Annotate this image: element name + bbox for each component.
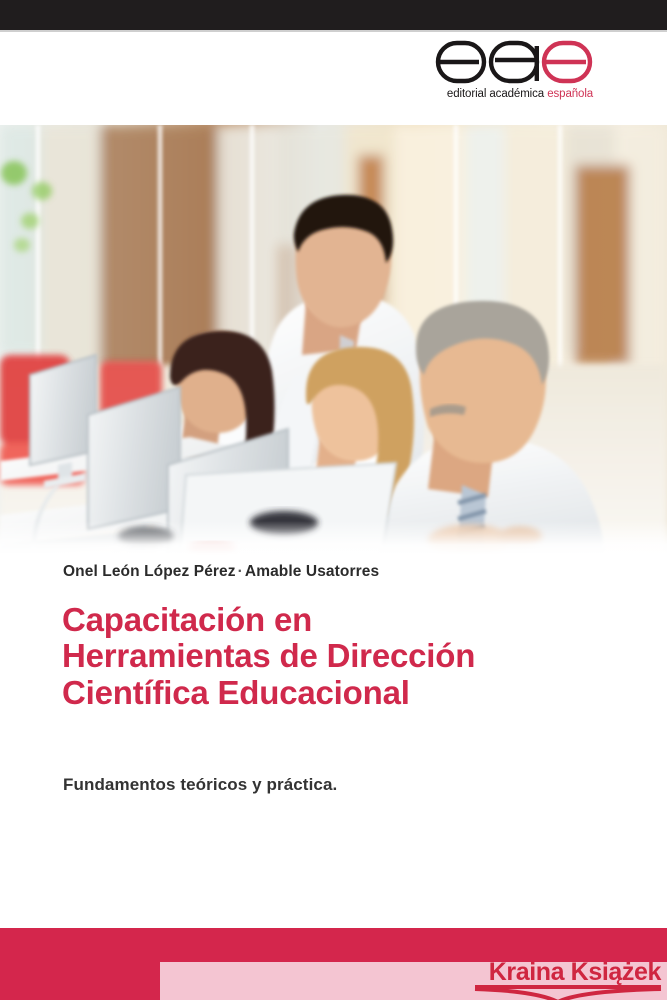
top-dark-band <box>0 0 667 30</box>
publisher-tagline: editorial académica española <box>435 88 605 100</box>
cover-photo <box>0 125 667 555</box>
publisher-logo: editorial académica española <box>435 36 605 100</box>
kraina-ksiazek-watermark: Kraina Książek <box>451 958 665 1000</box>
book-cover: editorial académica española <box>0 0 667 1000</box>
author-primary: Onel León López Pérez <box>63 563 236 580</box>
eae-logo-icon <box>435 36 605 86</box>
book-subtitle: Fundamentos teóricos y práctica. <box>63 775 337 795</box>
top-band-divider <box>0 30 667 32</box>
publisher-tagline-red: española <box>547 88 593 100</box>
author-secondary: Amable Usatorres <box>245 563 379 580</box>
open-book-icon <box>451 958 665 1000</box>
photo-bottom-fade <box>0 521 667 555</box>
book-title: Capacitación en Herramientas de Direcció… <box>62 602 492 711</box>
book-authors: Onel León López Pérez·Amable Usatorres <box>63 563 379 581</box>
author-separator: · <box>236 563 245 580</box>
publisher-tagline-dark: editorial académica <box>447 88 544 100</box>
